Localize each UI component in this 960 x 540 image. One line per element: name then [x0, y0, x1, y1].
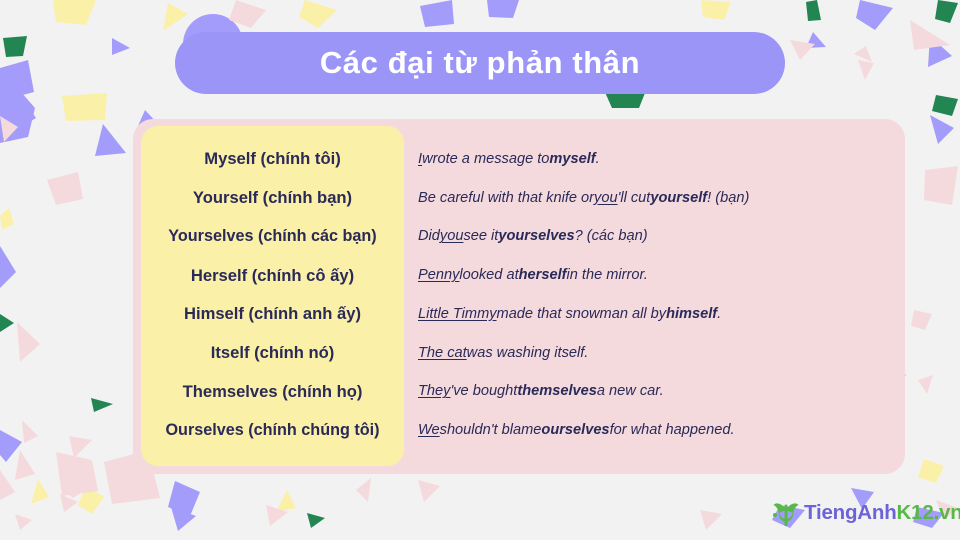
- subject-pronoun: you: [440, 228, 464, 245]
- page-title: Các đại từ phản thân: [320, 45, 640, 81]
- brand-name-part2: K12.vn: [897, 501, 960, 524]
- subject-pronoun: The cat: [418, 345, 467, 362]
- example-sentence: The cat was washing itself.: [418, 334, 896, 373]
- sprout-icon: [772, 500, 800, 526]
- reflexive-pronoun: yourselves: [498, 228, 574, 245]
- reflexive-pronoun: themselves: [517, 383, 597, 400]
- example-sentence: Penny looked at herself in the mirror.: [418, 256, 896, 295]
- subject-pronoun: you: [594, 190, 618, 207]
- example-sentence: They've bought themselves a new car.: [418, 373, 896, 412]
- pronoun-item: Ourselves (chính chúng tôi): [145, 411, 400, 450]
- pronoun-item: Himself (chính anh ấy): [145, 295, 400, 334]
- brand-name: TiengAnhK12.vn: [804, 501, 960, 525]
- pronoun-item: Themselves (chính họ): [145, 373, 400, 412]
- example-sentence: Did you see it yourselves? (các bạn): [418, 218, 896, 257]
- pronoun-item: Yourselves (chính các bạn): [145, 218, 400, 257]
- pronoun-list-card: Myself (chính tôi) Yourself (chính bạn) …: [141, 126, 404, 466]
- reflexive-pronoun: myself: [549, 151, 595, 168]
- reflexive-pronoun: himself: [666, 306, 717, 323]
- subject-pronoun: We: [418, 422, 440, 439]
- reflexive-pronoun: herself: [519, 267, 567, 284]
- subject-pronoun: Penny: [418, 267, 459, 284]
- brand-name-part1: TiengAnh: [804, 501, 897, 524]
- pronoun-item: Itself (chính nó): [145, 334, 400, 373]
- subject-pronoun: They: [418, 383, 450, 400]
- reflexive-pronoun: yourself: [650, 190, 707, 207]
- brand-logo[interactable]: TiengAnhK12.vn: [772, 498, 960, 528]
- slide-canvas: Các đại từ phản thân Myself (chính tôi) …: [0, 0, 960, 540]
- pronoun-item: Herself (chính cô ấy): [145, 256, 400, 295]
- title-banner: Các đại từ phản thân: [175, 32, 785, 94]
- example-sentence: Be careful with that knife or you'll cut…: [418, 179, 896, 218]
- subject-pronoun: I: [418, 151, 422, 168]
- pronoun-item: Myself (chính tôi): [145, 140, 400, 179]
- example-sentence-list: I wrote a message to myself. Be careful …: [418, 126, 896, 466]
- example-sentence: We shouldn't blame ourselves for what ha…: [418, 411, 896, 450]
- pronoun-item: Yourself (chính bạn): [145, 179, 400, 218]
- subject-pronoun: Little Timmy: [418, 306, 497, 323]
- reflexive-pronoun: ourselves: [541, 422, 609, 439]
- example-sentence: I wrote a message to myself.: [418, 140, 896, 179]
- example-sentence: Little Timmy made that snowman all by hi…: [418, 295, 896, 334]
